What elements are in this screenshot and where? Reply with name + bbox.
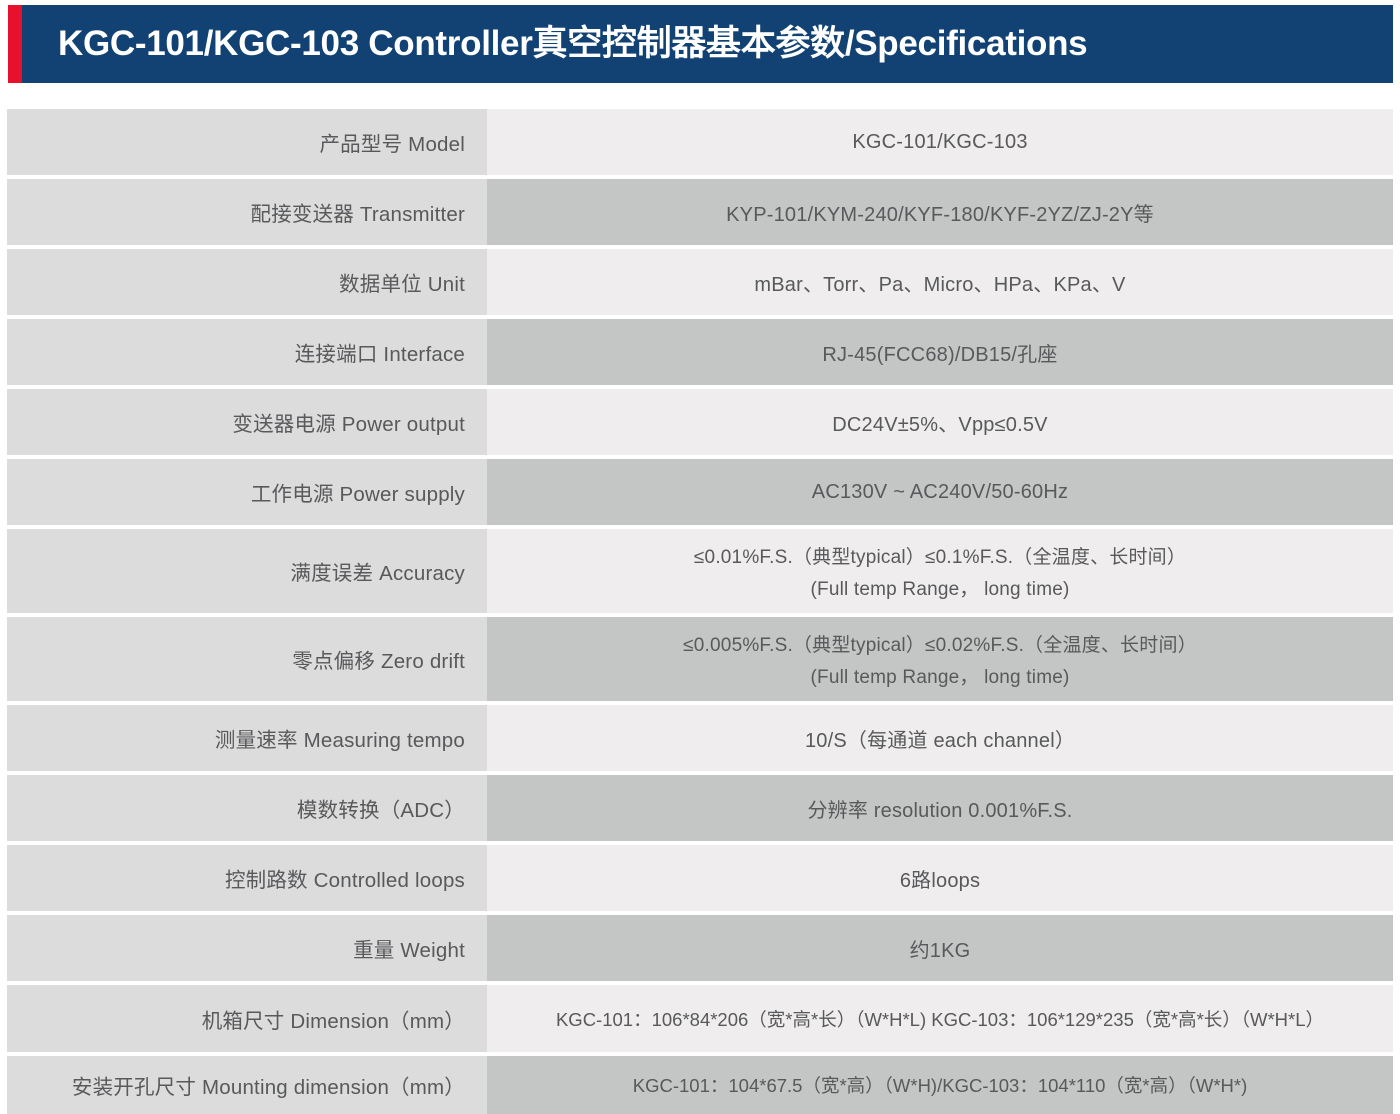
table-row: 模数转换（ADC） 分辨率 resolution 0.001%F.S. xyxy=(7,775,1393,841)
spec-value: 分辨率 resolution 0.001%F.S. xyxy=(487,775,1393,841)
spec-value: KGC-101：106*84*206（宽*高*长）（W*H*L) KGC-103… xyxy=(487,985,1393,1052)
spec-value-line: ≤0.01%F.S.（典型typical）≤0.1%F.S.（全温度、长时间） xyxy=(694,542,1186,569)
page-header-banner: KGC-101/KGC-103 Controller真空控制器基本参数/Spec… xyxy=(8,5,1393,83)
spec-value: 约1KG xyxy=(487,915,1393,981)
table-row: 控制路数 Controlled loops 6路loops xyxy=(7,845,1393,911)
page-title: KGC-101/KGC-103 Controller真空控制器基本参数/Spec… xyxy=(58,25,1087,64)
spec-label: 数据单位 Unit xyxy=(7,249,487,315)
spec-label: 工作电源 Power supply xyxy=(7,459,487,525)
spec-value: KGC-101/KGC-103 xyxy=(487,109,1393,175)
spec-label: 重量 Weight xyxy=(7,915,487,981)
table-row: 重量 Weight 约1KG xyxy=(7,915,1393,981)
spec-value: RJ-45(FCC68)/DB15/孔座 xyxy=(487,319,1393,385)
table-row: 测量速率 Measuring tempo 10/S（每通道 each chann… xyxy=(7,705,1393,771)
table-row: 配接变送器 Transmitter KYP-101/KYM-240/KYF-18… xyxy=(7,179,1393,245)
spec-value-line: KGC-101/KGC-103 xyxy=(852,131,1027,154)
table-row: 零点偏移 Zero drift ≤0.005%F.S.（典型typical）≤0… xyxy=(7,617,1393,701)
spec-value-line: 分辨率 resolution 0.001%F.S. xyxy=(807,794,1072,823)
spec-value-line-secondary: (Full temp Range， long time) xyxy=(810,662,1069,689)
table-row: 工作电源 Power supply AC130V ~ AC240V/50-60H… xyxy=(7,459,1393,525)
specifications-table: 产品型号 Model KGC-101/KGC-103 配接变送器 Transmi… xyxy=(7,109,1393,1114)
spec-value-line: RJ-45(FCC68)/DB15/孔座 xyxy=(822,338,1057,367)
spec-label: 变送器电源 Power output xyxy=(7,389,487,455)
header-accent-bar xyxy=(8,5,22,83)
spec-value: KYP-101/KYM-240/KYF-180/KYF-2YZ/ZJ-2Y等 xyxy=(487,179,1393,245)
header-title-block: KGC-101/KGC-103 Controller真空控制器基本参数/Spec… xyxy=(22,5,1393,83)
spec-value: 6路loops xyxy=(487,845,1393,911)
spec-label: 控制路数 Controlled loops xyxy=(7,845,487,911)
spec-value-line: ≤0.005%F.S.（典型typical）≤0.02%F.S.（全温度、长时间… xyxy=(683,630,1197,657)
spec-value-line: 10/S（每通道 each channel） xyxy=(805,724,1075,753)
spec-value: ≤0.01%F.S.（典型typical）≤0.1%F.S.（全温度、长时间） … xyxy=(487,529,1393,613)
spec-value-line: KYP-101/KYM-240/KYF-180/KYF-2YZ/ZJ-2Y等 xyxy=(726,198,1154,227)
spec-label: 测量速率 Measuring tempo xyxy=(7,705,487,771)
table-row: 满度误差 Accuracy ≤0.01%F.S.（典型typical）≤0.1%… xyxy=(7,529,1393,613)
table-row: 安装开孔尺寸 Mounting dimension（mm） KGC-101：10… xyxy=(7,1056,1393,1114)
spec-value-line: 约1KG xyxy=(910,934,971,963)
spec-value: AC130V ~ AC240V/50-60Hz xyxy=(487,459,1393,525)
spec-value: ≤0.005%F.S.（典型typical）≤0.02%F.S.（全温度、长时间… xyxy=(487,617,1393,701)
spec-value-line-secondary: (Full temp Range， long time) xyxy=(810,574,1069,601)
spec-value-line: DC24V±5%、Vpp≤0.5V xyxy=(832,408,1047,437)
spec-label: 零点偏移 Zero drift xyxy=(7,617,487,701)
spec-label: 连接端口 Interface xyxy=(7,319,487,385)
spec-label: 配接变送器 Transmitter xyxy=(7,179,487,245)
spec-value-line: KGC-101：106*84*206（宽*高*长）（W*H*L) KGC-103… xyxy=(556,1006,1324,1032)
spec-label: 模数转换（ADC） xyxy=(7,775,487,841)
spec-label: 满度误差 Accuracy xyxy=(7,529,487,613)
spec-label: 机箱尺寸 Dimension（mm） xyxy=(7,985,487,1052)
table-row: 连接端口 Interface RJ-45(FCC68)/DB15/孔座 xyxy=(7,319,1393,385)
spec-value-line: mBar、Torr、Pa、Micro、HPa、KPa、V xyxy=(754,268,1125,297)
table-row: 机箱尺寸 Dimension（mm） KGC-101：106*84*206（宽*… xyxy=(7,985,1393,1052)
spec-value: 10/S（每通道 each channel） xyxy=(487,705,1393,771)
table-row: 变送器电源 Power output DC24V±5%、Vpp≤0.5V xyxy=(7,389,1393,455)
specifications-page: KGC-101/KGC-103 Controller真空控制器基本参数/Spec… xyxy=(0,5,1400,1083)
spec-label: 产品型号 Model xyxy=(7,109,487,175)
spec-value: DC24V±5%、Vpp≤0.5V xyxy=(487,389,1393,455)
spec-value: KGC-101：104*67.5（宽*高）（W*H)/KGC-103：104*1… xyxy=(487,1056,1393,1114)
table-row: 产品型号 Model KGC-101/KGC-103 xyxy=(7,109,1393,175)
spec-value-line: KGC-101：104*67.5（宽*高）（W*H)/KGC-103：104*1… xyxy=(633,1072,1247,1098)
spec-label: 安装开孔尺寸 Mounting dimension（mm） xyxy=(7,1056,487,1114)
spec-value: mBar、Torr、Pa、Micro、HPa、KPa、V xyxy=(487,249,1393,315)
spec-value-line: AC130V ~ AC240V/50-60Hz xyxy=(812,481,1068,504)
spec-value-line: 6路loops xyxy=(900,864,980,893)
table-row: 数据单位 Unit mBar、Torr、Pa、Micro、HPa、KPa、V xyxy=(7,249,1393,315)
